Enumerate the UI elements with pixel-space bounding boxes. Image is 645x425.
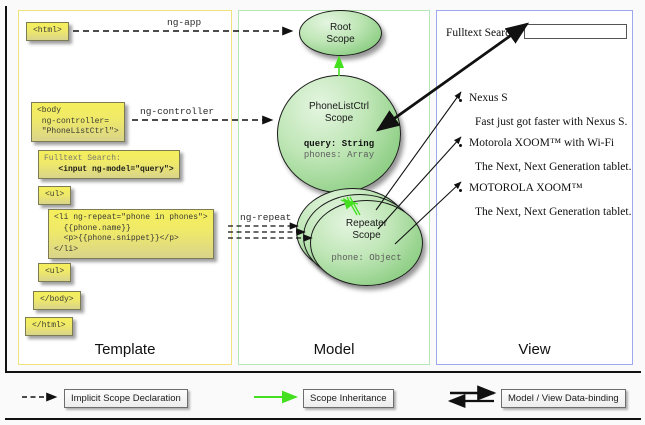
panel-model-label: Model bbox=[239, 341, 429, 358]
scope-root[interactable]: Root Scope bbox=[299, 10, 382, 56]
scope-root-title-line1: Root bbox=[330, 22, 351, 33]
view-item-snippet: Fast just got faster with Nexus S. bbox=[475, 116, 627, 128]
code-box-ul-close[interactable]: <ul> bbox=[38, 263, 71, 282]
code-box-html-open-text: <html> bbox=[33, 26, 62, 35]
legend-item-implicit-scope-declaration[interactable]: Implicit Scope Declaration bbox=[64, 389, 188, 408]
view-search-label: Fulltext Search: bbox=[446, 27, 519, 39]
frame-bottom-rule-2 bbox=[5, 418, 641, 420]
view-item-name: Motorola XOOM™ with Wi-Fi bbox=[469, 137, 614, 149]
panel-view-label: View bbox=[437, 341, 632, 358]
view-list-bullet bbox=[459, 99, 462, 102]
legend-label-scope-inheritance: Scope Inheritance bbox=[310, 393, 387, 404]
code-box-ul-open-text: <ul> bbox=[45, 190, 64, 199]
scope-phonelist-title-line1: PhoneListCtrl bbox=[309, 101, 369, 112]
code-box-li-line1: <li ng-repeat="phone in phones"> bbox=[54, 213, 208, 222]
scope-root-title-line2: Scope bbox=[326, 34, 354, 45]
code-box-ul-close-text: <ul> bbox=[45, 267, 64, 276]
frame-bottom-rule bbox=[5, 371, 641, 373]
view-item-name: Nexus S bbox=[469, 92, 508, 104]
code-box-search-label: Fulltext Search: bbox=[44, 154, 121, 163]
code-box-body-line3: "PhoneListCtrl"> bbox=[37, 127, 119, 136]
legend-label-implicit-scope-declaration: Implicit Scope Declaration bbox=[71, 393, 181, 404]
code-box-li-repeat[interactable]: <li ng-repeat="phone in phones"> {{phone… bbox=[48, 209, 214, 259]
view-list-bullet bbox=[459, 144, 462, 147]
scope-repeater-title-line1: Repeater bbox=[346, 218, 387, 229]
connector-label-ng-app: ng-app bbox=[167, 17, 201, 28]
scope-phonelist-title-line2: Scope bbox=[325, 113, 353, 124]
code-box-body-close[interactable]: </body> bbox=[33, 291, 81, 310]
code-box-li-line3: <p>{{phone.snippet}}</p> bbox=[54, 234, 179, 243]
code-box-html-open[interactable]: <html> bbox=[26, 22, 69, 41]
legend-item-model-view-data-binding[interactable]: Model / View Data-binding bbox=[501, 389, 626, 408]
code-box-ul-open[interactable]: <ul> bbox=[38, 186, 71, 205]
view-item-snippet: The Next, Next Generation tablet. bbox=[475, 161, 631, 173]
code-box-li-line4: </li> bbox=[54, 245, 78, 254]
code-box-body-open[interactable]: <body ng-controller= "PhoneListCtrl"> bbox=[31, 102, 125, 142]
code-box-body-line2: ng-controller= bbox=[37, 117, 109, 126]
view-search-input[interactable] bbox=[524, 24, 627, 39]
scope-repeater[interactable]: Repeater Scope phone: Object bbox=[310, 200, 423, 286]
code-box-fulltext-search[interactable]: Fulltext Search: <input ng-model="query"… bbox=[38, 150, 180, 179]
panel-template-label: Template bbox=[19, 341, 231, 358]
frame-left-rule bbox=[5, 6, 7, 371]
scope-phonelistctrl[interactable]: PhoneListCtrl Scope query: String phones… bbox=[277, 75, 401, 193]
scope-phonelist-prop-phones: phones: Array bbox=[304, 150, 374, 160]
code-box-body-line1: <body bbox=[37, 106, 61, 115]
code-box-html-close[interactable]: </html> bbox=[25, 317, 73, 336]
code-box-body-close-text: </body> bbox=[40, 295, 74, 304]
code-box-search-input-markup: <input ng-model="query"> bbox=[44, 165, 174, 174]
connector-label-ng-controller: ng-controller bbox=[140, 106, 214, 117]
legend-label-model-view-data-binding: Model / View Data-binding bbox=[508, 393, 619, 404]
view-item-snippet: The Next, Next Generation tablet. bbox=[475, 206, 631, 218]
view-list-bullet bbox=[459, 189, 462, 192]
legend-item-scope-inheritance[interactable]: Scope Inheritance bbox=[303, 389, 394, 408]
scope-repeater-title-line2: Scope bbox=[352, 230, 380, 241]
connector-label-ng-repeat: ng-repeat bbox=[240, 212, 291, 223]
scope-phonelist-prop-query: query: String bbox=[304, 139, 374, 149]
view-item-name: MOTOROLA XOOM™ bbox=[469, 182, 583, 194]
diagram-canvas: Template <html> <body ng-controller= "Ph… bbox=[0, 0, 645, 425]
code-box-html-close-text: </html> bbox=[32, 321, 66, 330]
panel-view: Fulltext Search: Nexus S Fast just got f… bbox=[436, 10, 633, 365]
code-box-li-line2: {{phone.name}} bbox=[54, 224, 131, 233]
scope-repeater-prop-phone: phone: Object bbox=[331, 253, 401, 263]
